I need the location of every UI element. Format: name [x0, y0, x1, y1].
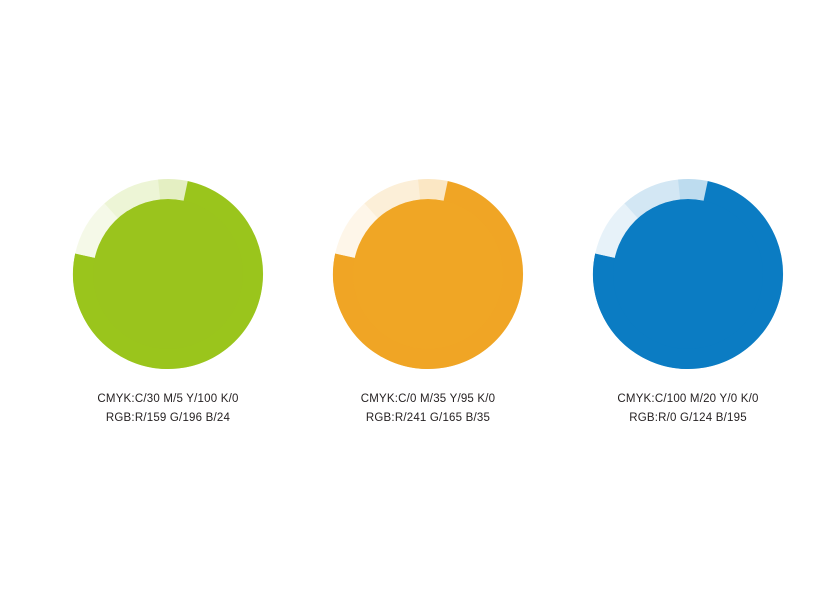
blue-core-disc	[613, 199, 763, 349]
orange-cmyk-label: CMYK:C/0 M/35 Y/95 K/0	[288, 390, 568, 409]
orange-color-wheel	[288, 176, 568, 372]
orange-rgb-label: RGB:R/241 G/165 B/35	[288, 409, 568, 428]
green-color-wheel	[28, 176, 308, 372]
canvas: CMYK:C/30 M/5 Y/100 K/0 RGB:R/159 G/196 …	[0, 0, 838, 597]
green-core-disc	[93, 199, 243, 349]
orange-wheel-svg	[328, 176, 528, 372]
orange-swatch: CMYK:C/0 M/35 Y/95 K/0 RGB:R/241 G/165 B…	[288, 0, 568, 597]
blue-cmyk-label: CMYK:C/100 M/20 Y/0 K/0	[548, 390, 828, 409]
orange-caption: CMYK:C/0 M/35 Y/95 K/0 RGB:R/241 G/165 B…	[288, 390, 568, 428]
blue-caption: CMYK:C/100 M/20 Y/0 K/0 RGB:R/0 G/124 B/…	[548, 390, 828, 428]
green-swatch: CMYK:C/30 M/5 Y/100 K/0 RGB:R/159 G/196 …	[28, 0, 308, 597]
blue-wheel-svg	[588, 176, 788, 372]
orange-core-disc	[353, 199, 503, 349]
green-caption: CMYK:C/30 M/5 Y/100 K/0 RGB:R/159 G/196 …	[28, 390, 308, 428]
blue-swatch: CMYK:C/100 M/20 Y/0 K/0 RGB:R/0 G/124 B/…	[548, 0, 828, 597]
green-rgb-label: RGB:R/159 G/196 B/24	[28, 409, 308, 428]
green-cmyk-label: CMYK:C/30 M/5 Y/100 K/0	[28, 390, 308, 409]
blue-rgb-label: RGB:R/0 G/124 B/195	[548, 409, 828, 428]
blue-color-wheel	[548, 176, 828, 372]
green-wheel-svg	[68, 176, 268, 372]
